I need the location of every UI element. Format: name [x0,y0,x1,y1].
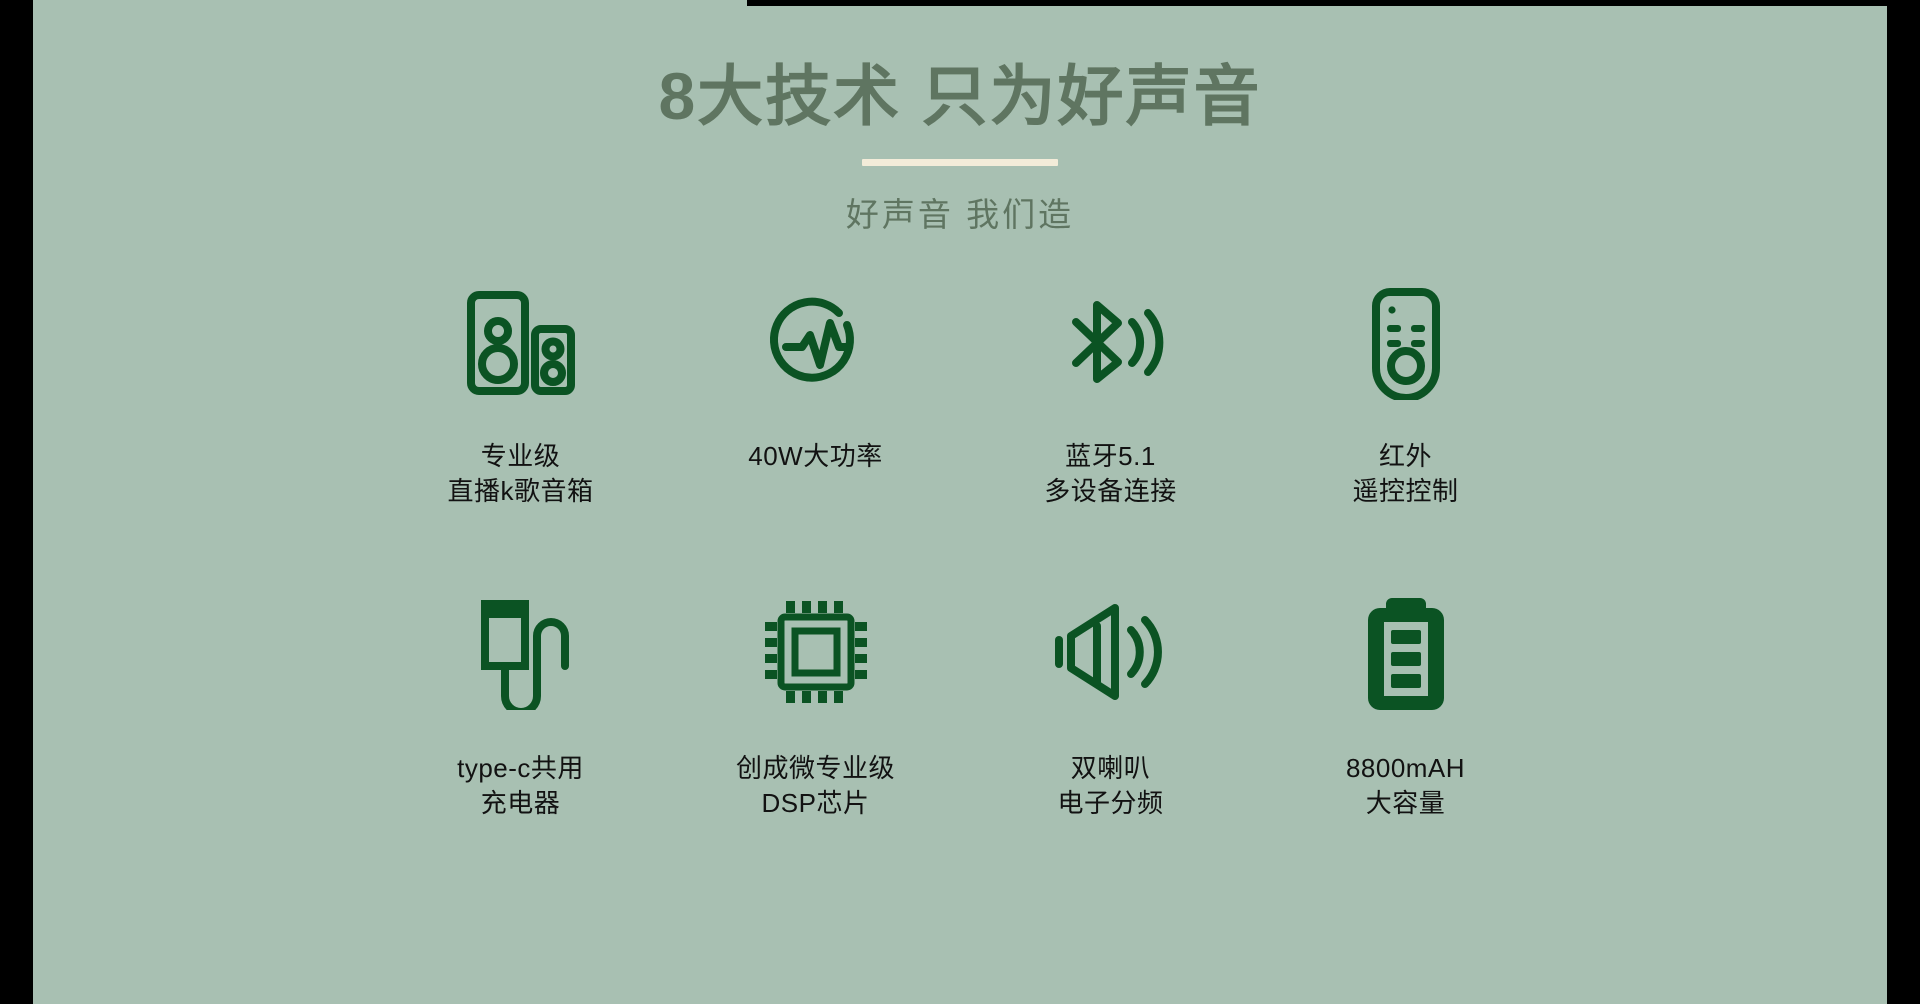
battery-icon [1321,587,1491,717]
speakers-icon [436,280,606,405]
feature-label: 40W大功率 [748,439,882,474]
feature-item-dsp: 创成微专业级 DSP芯片 [668,587,963,821]
page-subtitle: 好声音 我们造 [33,166,1887,236]
feature-label: 红外 遥控控制 [1352,439,1458,509]
poster-header: 8大技术 只为好声音 好声音 我们造 [33,0,1887,236]
feature-item-horn: 双喇叭 电子分频 [963,587,1258,821]
feature-label: 专业级 直播k歌音箱 [447,439,593,509]
title-divider [862,159,1058,166]
horn-speaker-icon [1026,587,1196,717]
power-waveform-icon [731,280,901,405]
dsp-chip-icon [731,587,901,717]
feature-item-speakers: 专业级 直播k歌音箱 [373,280,668,509]
feature-label: 双喇叭 电子分频 [1057,751,1163,821]
feature-label: 蓝牙5.1 多设备连接 [1044,439,1177,509]
top-letterbox-bar [747,0,1887,6]
feature-label: 创成微专业级 DSP芯片 [736,751,895,821]
poster-canvas: 8大技术 只为好声音 好声音 我们造 [33,0,1887,1004]
page-title: 8大技术 只为好声音 [33,0,1887,131]
feature-grid: 专业级 直播k歌音箱 40W大功率 [373,280,1553,821]
feature-item-bluetooth: 蓝牙5.1 多设备连接 [963,280,1258,509]
right-letterbox-bar [1887,0,1920,1004]
usb-type-c-cable-icon [436,587,606,717]
remote-control-icon [1321,280,1491,405]
feature-item-typec: type-c共用 充电器 [373,587,668,821]
poster-stage: 8大技术 只为好声音 好声音 我们造 [0,0,1920,1004]
left-letterbox-bar [0,0,33,1004]
feature-item-battery: 8800mAH 大容量 [1258,587,1553,821]
feature-item-power: 40W大功率 [668,280,963,509]
feature-label: 8800mAH 大容量 [1346,751,1465,821]
feature-label: type-c共用 充电器 [457,751,584,821]
bluetooth-icon [1026,280,1196,405]
feature-item-remote: 红外 遥控控制 [1258,280,1553,509]
